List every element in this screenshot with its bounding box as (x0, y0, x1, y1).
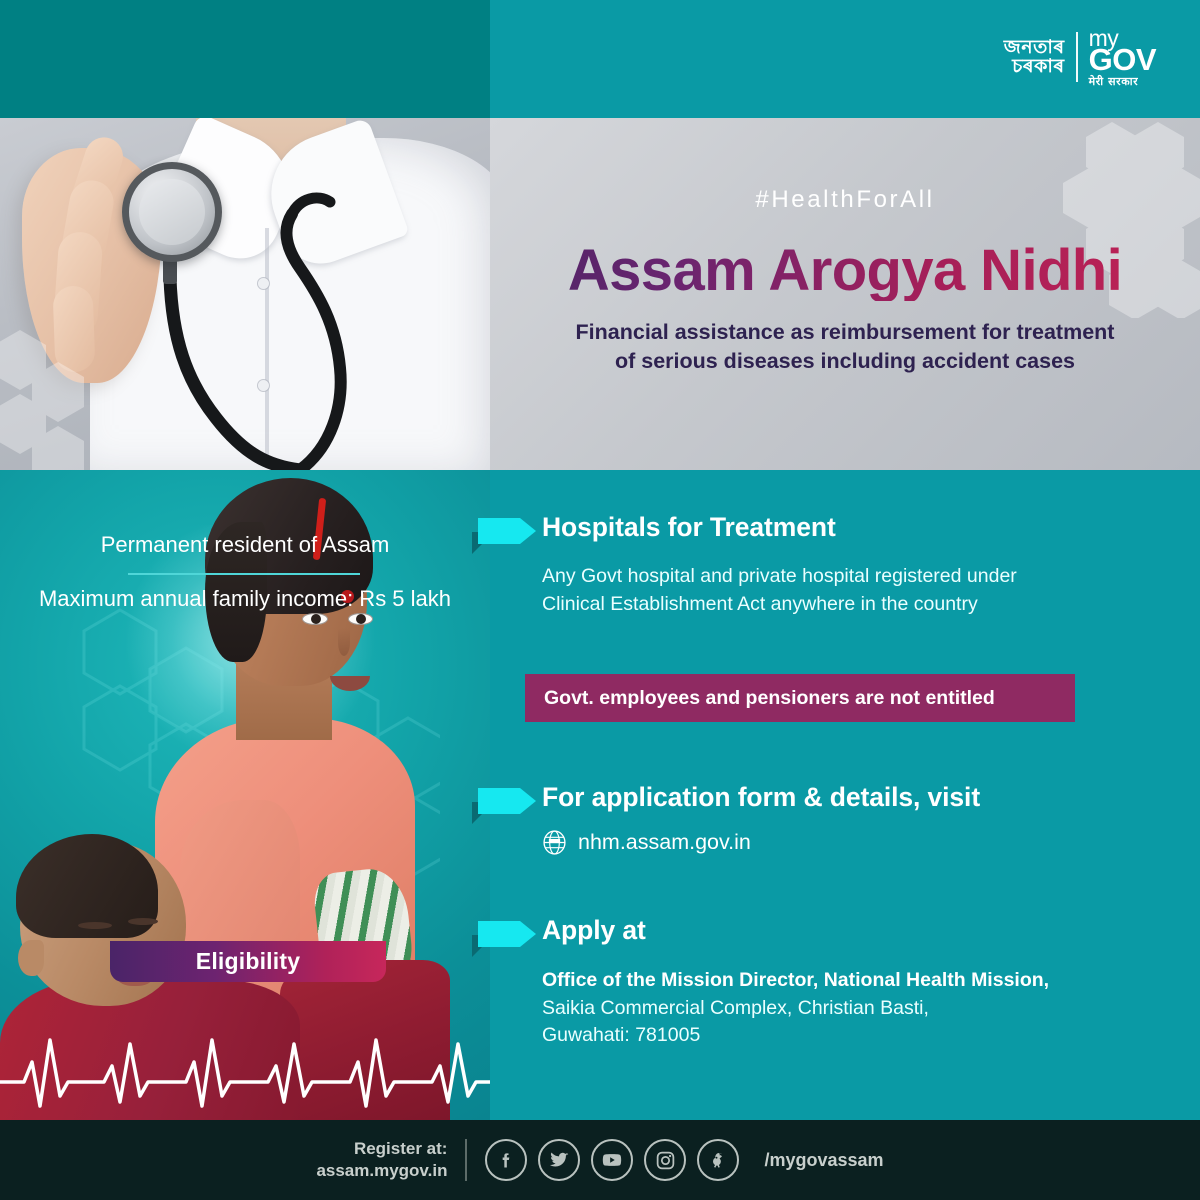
eligibility-badge-label: Eligibility (196, 948, 300, 975)
hero-subtitle-line1: Financial assistance as reimbursement fo… (530, 318, 1160, 347)
stethoscope-head-icon (122, 162, 222, 262)
hero-subtitle: Financial assistance as reimbursement fo… (530, 318, 1160, 376)
baby-ear (18, 940, 44, 976)
twitter-icon[interactable] (538, 1139, 580, 1181)
logo-assamese-text: জনতাৰ চৰকাৰ (1004, 38, 1065, 76)
baby-eye-right (128, 918, 158, 925)
facebook-icon[interactable] (485, 1139, 527, 1181)
section-hospitals-body: Any Govt hospital and private hospital r… (542, 562, 1162, 618)
doctor-stethoscope-photo (0, 118, 490, 470)
address-line2: Saikia Commercial Complex, Christian Bas… (542, 995, 1172, 1023)
eligibility-panel: Eligibility (0, 470, 490, 1120)
website-url: nhm.assam.gov.in (578, 830, 751, 855)
section-hospitals-heading: Hospitals for Treatment (542, 512, 836, 543)
hero-subtitle-line2: of serious diseases including accident c… (530, 347, 1160, 376)
logo-gov-text: my GOV मेरी सरकार (1089, 28, 1156, 87)
section-apply-heading: Apply at (542, 915, 646, 946)
section-apply-address: Office of the Mission Director, National… (542, 967, 1172, 1050)
register-line2: assam.mygov.in (316, 1160, 447, 1182)
header-left-band (0, 0, 490, 118)
woman-mouth (330, 676, 370, 691)
woman-eye-right (348, 613, 373, 625)
chevron-marker-icon (478, 788, 536, 814)
woman-nose (338, 628, 350, 656)
chevron-marker-icon (478, 921, 536, 947)
youtube-icon[interactable] (591, 1139, 633, 1181)
notice-text: Govt. employees and pensioners are not e… (544, 687, 995, 710)
eligibility-divider (128, 573, 360, 575)
website-link[interactable]: nhm.assam.gov.in (542, 830, 751, 855)
poster-root: জনতাৰ চৰকাৰ my GOV मेरी सरकार (0, 0, 1200, 1200)
ecg-heartbeat-line-icon (0, 1010, 490, 1120)
eligibility-item-2: Maximum annual family income: Rs 5 lakh (0, 586, 490, 612)
instagram-icon[interactable] (644, 1139, 686, 1181)
address-line1: Office of the Mission Director, National… (542, 967, 1172, 995)
woman-eye-left (302, 613, 328, 625)
social-links: /mygovassam (485, 1139, 883, 1181)
logo-divider (1076, 32, 1078, 82)
notice-banner: Govt. employees and pensioners are not e… (525, 674, 1075, 722)
register-text: Register at: assam.mygov.in (316, 1138, 447, 1183)
logo-gov: GOV (1089, 46, 1156, 75)
globe-icon (542, 830, 567, 855)
logo-hindi: मेरी सरकार (1089, 77, 1156, 87)
register-line1: Register at: (316, 1138, 447, 1160)
koo-icon[interactable] (697, 1139, 739, 1181)
section-website-heading: For application form & details, visit (542, 782, 980, 813)
eligibility-badge: Eligibility (110, 941, 386, 982)
page-title: Assam Arogya Nidhi (490, 240, 1200, 301)
footer-bar: Register at: assam.mygov.in (0, 1120, 1200, 1200)
address-line3: Guwahati: 781005 (542, 1022, 1172, 1050)
eligibility-item-1: Permanent resident of Assam (0, 532, 490, 558)
section-hospitals-body-line2: Clinical Establishment Act anywhere in t… (542, 590, 1162, 618)
section-hospitals-body-line1: Any Govt hospital and private hospital r… (542, 562, 1162, 590)
hero-text-panel: #HealthForAll Assam Arogya Nidhi Financi… (490, 118, 1200, 470)
mygov-logo[interactable]: জনতাৰ চৰকাৰ my GOV मेरी सरकार (1004, 28, 1156, 87)
logo-assamese-line2: চৰকাৰ (1012, 57, 1064, 76)
hexagon-pattern-hero-left (0, 320, 120, 470)
hashtag-text: #HealthForAll (490, 186, 1200, 214)
baby-eye-left (78, 922, 112, 929)
social-handle: /mygovassam (764, 1150, 883, 1171)
header-bar: জনতাৰ চৰকাৰ my GOV मेरी सरकार (0, 0, 1200, 118)
footer-divider (465, 1139, 467, 1181)
hero-section: #HealthForAll Assam Arogya Nidhi Financi… (0, 118, 1200, 470)
